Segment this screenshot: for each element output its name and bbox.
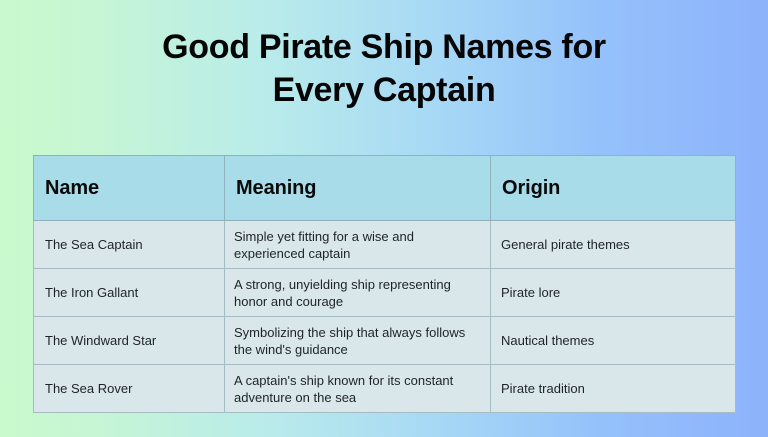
column-header-origin: Origin (491, 156, 736, 221)
cell-name: The Iron Gallant (34, 269, 225, 317)
cell-name: The Sea Rover (34, 365, 225, 413)
cell-meaning: Symbolizing the ship that always follows… (225, 317, 491, 365)
cell-meaning: Simple yet fitting for a wise and experi… (225, 221, 491, 269)
cell-origin: General pirate themes (491, 221, 736, 269)
cell-meaning: A captain's ship known for its constant … (225, 365, 491, 413)
page-title-line-2: Every Captain (0, 69, 768, 112)
page-title: Good Pirate Ship Names for Every Captain (0, 26, 768, 112)
table-row: The Iron Gallant A strong, unyielding sh… (34, 269, 736, 317)
table-header: Name Meaning Origin (34, 156, 736, 221)
page-root: Good Pirate Ship Names for Every Captain… (0, 0, 768, 437)
cell-meaning: A strong, unyielding ship representing h… (225, 269, 491, 317)
column-header-name: Name (34, 156, 225, 221)
ship-names-table-container: Name Meaning Origin The Sea Captain Simp… (33, 155, 735, 413)
ship-names-table: Name Meaning Origin The Sea Captain Simp… (33, 155, 736, 413)
cell-origin: Nautical themes (491, 317, 736, 365)
page-title-line-1: Good Pirate Ship Names for (0, 26, 768, 69)
table-header-row: Name Meaning Origin (34, 156, 736, 221)
table-row: The Windward Star Symbolizing the ship t… (34, 317, 736, 365)
table-row: The Sea Captain Simple yet fitting for a… (34, 221, 736, 269)
cell-name: The Windward Star (34, 317, 225, 365)
table-row: The Sea Rover A captain's ship known for… (34, 365, 736, 413)
cell-origin: Pirate tradition (491, 365, 736, 413)
column-header-meaning: Meaning (225, 156, 491, 221)
table-body: The Sea Captain Simple yet fitting for a… (34, 221, 736, 413)
cell-name: The Sea Captain (34, 221, 225, 269)
cell-origin: Pirate lore (491, 269, 736, 317)
